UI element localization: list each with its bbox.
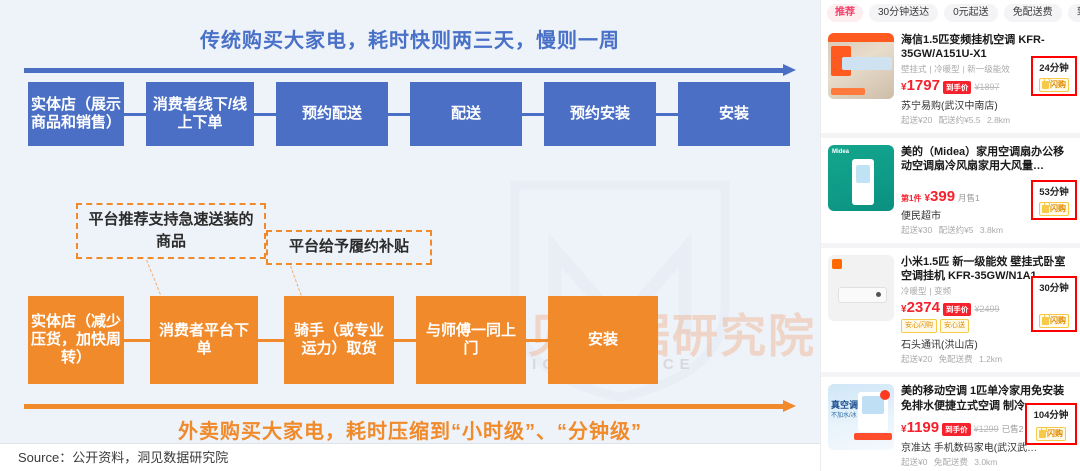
delivery-min: 起送¥20 xyxy=(901,115,932,125)
footer-divider xyxy=(0,443,820,444)
source-note: Source：公开资料，洞见数据研究院 xyxy=(18,447,228,466)
flash-sale-label: 闪购 xyxy=(1050,79,1066,91)
delivery-time-highlight: 104分钟 闪购 xyxy=(1025,403,1077,445)
process-diagram-panel: 洞见数据研究院 VISION FINANCE 传统购买大家电，耗时快则两三天，慢… xyxy=(0,0,820,443)
delivery-time: 30分钟 xyxy=(1039,280,1069,294)
price-tag-badge: 到手价 xyxy=(943,81,972,94)
filter-chip-30min[interactable]: 30分钟送达 xyxy=(869,4,938,22)
delivery-distance: 2.8km xyxy=(987,115,1010,125)
product-name: 美的（Midea）家用空调扇办公移动空调扇冷风扇家用大风量… xyxy=(901,145,1075,173)
filter-chip-min-order[interactable]: 0元起送 xyxy=(944,4,998,22)
lock-icon xyxy=(1042,81,1049,89)
shop-name[interactable]: 苏宁易购(武汉中南店) xyxy=(901,97,1075,112)
filter-chip-instore[interactable]: 到店 xyxy=(1068,4,1080,22)
lock-icon xyxy=(1039,430,1046,438)
callout-leader-line-1 xyxy=(146,260,163,299)
delivery-min: 起送¥30 xyxy=(901,225,932,235)
delivery-time-highlight: 24分钟 闪购 xyxy=(1031,56,1077,96)
product-price: ¥2374 xyxy=(901,300,940,315)
attr-item: 冷暖型 xyxy=(901,286,927,296)
bottom-flow-row: 实体店（减少压货，加快周转） 消费者平台下单 骑手（或专业运力）取货 与师傅一同… xyxy=(0,296,820,384)
product-old-price: ¥1897 xyxy=(974,82,999,92)
app-listing-panel: 推荐 30分钟送达 0元起送 免配送费 到店 海信1.5匹变频挂机空调 KFR-… xyxy=(820,0,1080,471)
delivery-distance: 3.8km xyxy=(980,225,1003,235)
delivery-fee: 配送约¥5 xyxy=(939,225,974,235)
flash-sale-badge: 闪购 xyxy=(1039,314,1069,328)
flow-node-top-5: 预约安装 xyxy=(544,82,656,146)
delivery-fee: 免配送费 xyxy=(939,354,973,364)
flash-sale-badge: 闪购 xyxy=(1039,202,1069,216)
attr-item: 壁挂式 xyxy=(901,64,927,74)
attr-item: 新一级能效 xyxy=(967,64,1010,74)
flow-node-top-1: 实体店（展示商品和销售） xyxy=(28,82,124,146)
delivery-time: 53分钟 xyxy=(1039,184,1069,198)
top-flow-arrow xyxy=(24,64,796,76)
product-price: ¥1797 xyxy=(901,78,940,93)
flow-node-top-6: 安装 xyxy=(678,82,790,146)
delivery-distance: 3.0km xyxy=(974,457,997,467)
flow-node-top-4: 配送 xyxy=(410,82,522,146)
delivery-time: 104分钟 xyxy=(1034,407,1069,421)
filter-chip-free-delivery[interactable]: 免配送费 xyxy=(1004,4,1062,22)
top-flow-title: 传统购买大家电，耗时快则两三天，慢则一周 xyxy=(0,24,820,53)
bottom-flow-title: 外卖购买大家电，耗时压缩到“小时级”、“分钟级” xyxy=(0,415,820,443)
delivery-info: 起送¥0 免配送费 3.0km xyxy=(901,456,1075,468)
sold-count: 已售2 xyxy=(1002,423,1024,435)
product-card[interactable]: Midea 美的（Midea）家用空调扇办公移动空调扇冷风扇家用大风量… 第1件… xyxy=(821,138,1080,248)
attr-item: 冷暖型 xyxy=(934,64,960,74)
delivery-fee: 免配送费 xyxy=(934,457,968,467)
service-badge: 安心送 xyxy=(940,319,969,333)
flash-sale-label: 闪购 xyxy=(1047,428,1063,440)
delivery-distance: 1.2km xyxy=(979,354,1002,364)
callout-platform-subsidy: 平台给予履约补贴 xyxy=(266,230,432,265)
price-prefix: 第1件 xyxy=(901,193,921,204)
product-card[interactable]: 真空调 不加水/冰 美的移动空调 1匹单冷家用免安装免排水便捷立式空调 制冷… … xyxy=(821,377,1080,471)
product-card[interactable]: 海信1.5匹变频挂机空调 KFR-35GW/A151U-X1 壁挂式| 冷暖型|… xyxy=(821,26,1080,138)
flow-node-bottom-1: 实体店（减少压货，加快周转） xyxy=(28,296,124,384)
flow-node-bottom-5: 安装 xyxy=(548,296,658,384)
top-flow-row: 实体店（展示商品和销售） 消费者线下/线上下单 预约配送 配送 预约安装 安装 xyxy=(0,82,820,146)
callout-leader-line-2 xyxy=(290,266,303,300)
flash-sale-label: 闪购 xyxy=(1050,315,1066,327)
lock-icon xyxy=(1042,205,1049,213)
flash-sale-badge: 闪购 xyxy=(1036,427,1066,441)
flash-sale-badge: 闪购 xyxy=(1039,78,1069,92)
flash-sale-label: 闪购 xyxy=(1050,203,1066,215)
product-card[interactable]: 小米1.5匹 新一级能效 壁挂式卧室空调挂机 KFR-35GW/N1A1 冷暖型… xyxy=(821,248,1080,377)
price-tag-badge: 到手价 xyxy=(943,303,972,316)
flow-node-top-3: 预约配送 xyxy=(276,82,388,146)
delivery-time: 24分钟 xyxy=(1039,60,1069,74)
price-tag-badge: 到手价 xyxy=(942,423,971,436)
product-thumbnail[interactable] xyxy=(828,255,894,321)
product-old-price: ¥1299 xyxy=(974,424,999,434)
service-badge: 安心闪购 xyxy=(901,319,937,333)
flow-node-bottom-2: 消费者平台下单 xyxy=(150,296,258,384)
filter-chip-recommended[interactable]: 推荐 xyxy=(827,4,863,22)
product-thumbnail[interactable]: 真空调 不加水/冰 xyxy=(828,384,894,450)
delivery-time-highlight: 53分钟 闪购 xyxy=(1031,180,1077,220)
sold-count: 月售1 xyxy=(958,192,980,204)
lock-icon xyxy=(1042,317,1049,325)
product-old-price: ¥2499 xyxy=(974,304,999,314)
delivery-info: 起送¥20 免配送费 1.2km xyxy=(901,353,1075,365)
flow-node-bottom-3: 骑手（或专业运力）取货 xyxy=(284,296,394,384)
attr-item: 变频 xyxy=(934,286,951,296)
product-thumbnail[interactable]: Midea xyxy=(828,145,894,211)
bottom-flow-arrow xyxy=(24,400,796,412)
callout-platform-recommend: 平台推荐支持急速送装的商品 xyxy=(76,203,266,259)
flow-node-top-2: 消费者线下/线上下单 xyxy=(146,82,254,146)
delivery-fee: 配送约¥5.5 xyxy=(939,115,981,125)
product-price: ¥1199 xyxy=(901,420,939,435)
flow-node-bottom-4: 与师傅一同上门 xyxy=(416,296,526,384)
product-thumbnail[interactable] xyxy=(828,33,894,99)
shop-name[interactable]: 石头通讯(洪山店) xyxy=(901,336,1075,351)
delivery-time-highlight: 30分钟 闪购 xyxy=(1031,276,1077,332)
delivery-min: 起送¥20 xyxy=(901,354,932,364)
delivery-min: 起送¥0 xyxy=(901,457,927,467)
product-price: ¥399 xyxy=(924,189,955,204)
filter-chip-row[interactable]: 推荐 30分钟送达 0元起送 免配送费 到店 xyxy=(821,0,1080,26)
delivery-info: 起送¥30 配送约¥5 3.8km xyxy=(901,224,1075,236)
delivery-info: 起送¥20 配送约¥5.5 2.8km xyxy=(901,114,1075,126)
